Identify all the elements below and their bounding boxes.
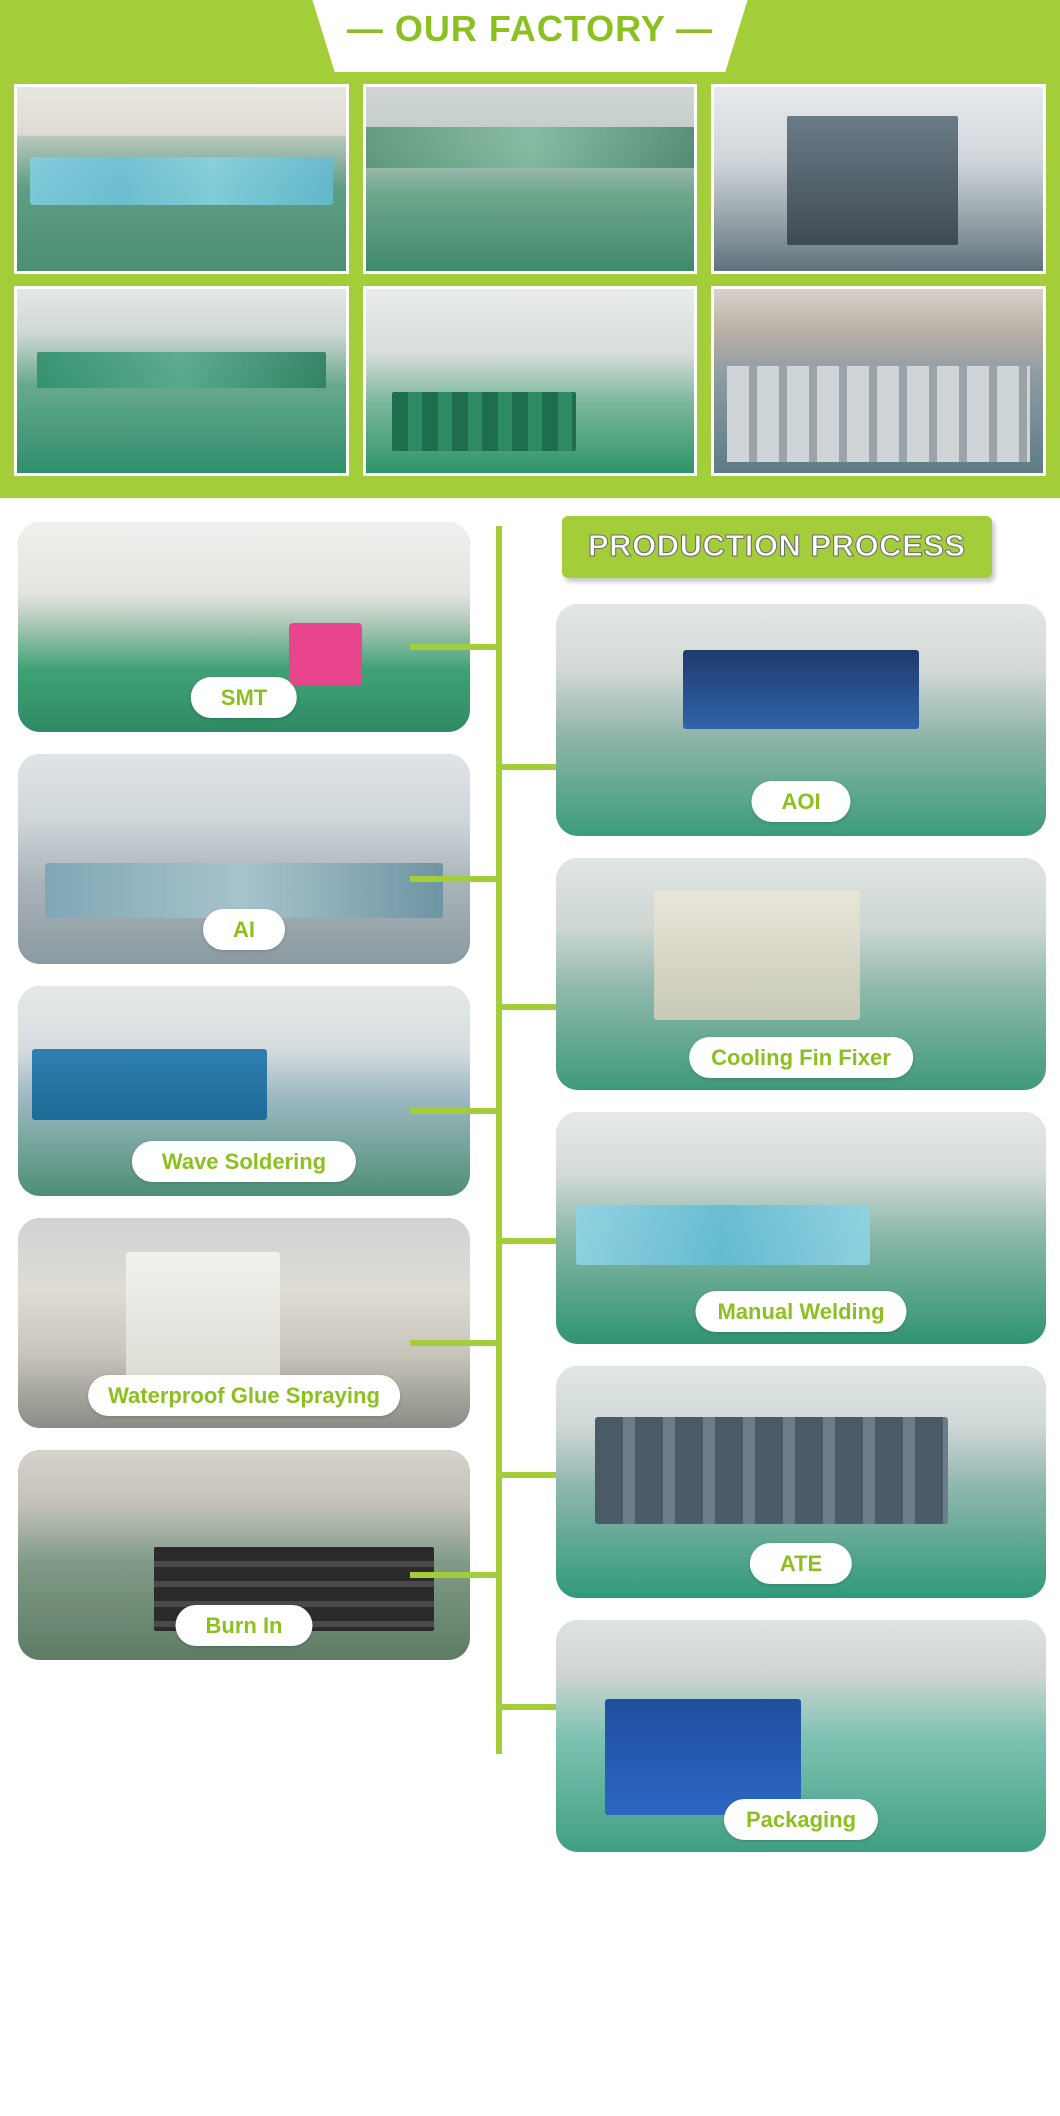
timeline-arm-left-5 <box>410 1572 496 1578</box>
production-process-title-wrap: PRODUCTION PROCESS <box>556 516 1046 578</box>
process-step-wave-soldering[interactable]: Wave Soldering <box>18 986 470 1196</box>
packaging-label: Packaging <box>724 1799 878 1840</box>
manual-welding-label: Manual Welding <box>695 1291 906 1332</box>
process-step-burn-in[interactable]: Burn In <box>18 1450 470 1660</box>
cooling-fin-fixer-label: Cooling Fin Fixer <box>689 1037 913 1078</box>
ai-label: AI <box>203 909 285 950</box>
timeline-arm-left-4 <box>410 1340 496 1346</box>
process-step-ate[interactable]: ATE <box>556 1366 1046 1598</box>
aoi-label: AOI <box>751 781 850 822</box>
process-step-cooling-fin-fixer[interactable]: Cooling Fin Fixer <box>556 858 1046 1090</box>
page-title: — OUR FACTORY — <box>0 8 1060 50</box>
process-step-ai[interactable]: AI <box>18 754 470 964</box>
ate-label: ATE <box>750 1543 852 1584</box>
process-left-column: SMT AI Wave Soldering Waterproof Glue Sp… <box>0 516 470 1682</box>
factory-photo-assembly-line-workers-1 <box>14 84 349 274</box>
process-step-manual-welding[interactable]: Manual Welding <box>556 1112 1046 1344</box>
process-right-column: PRODUCTION PROCESS AOI Cooling Fin Fixer… <box>556 516 1060 1874</box>
timeline-arm-left-1 <box>410 644 496 650</box>
waterproof-glue-spraying-label: Waterproof Glue Spraying <box>88 1375 400 1416</box>
production-process-title: PRODUCTION PROCESS <box>588 528 966 563</box>
gallery-row <box>14 286 1046 476</box>
factory-gallery <box>0 72 1060 498</box>
factory-photo-aging-test-racks <box>711 286 1046 476</box>
factory-photo-assembly-line-workers-2 <box>363 84 698 274</box>
factory-photo-automated-machine <box>711 84 1046 274</box>
timeline-arm-left-3 <box>410 1108 496 1114</box>
page-header: — OUR FACTORY — <box>0 0 1060 72</box>
process-step-aoi[interactable]: AOI <box>556 604 1046 836</box>
timeline-vertical-line <box>496 526 502 1754</box>
factory-photo-assembly-line-workers-3 <box>14 286 349 476</box>
burn-in-label: Burn In <box>176 1605 313 1646</box>
smt-label: SMT <box>191 677 297 718</box>
gallery-row <box>14 84 1046 274</box>
process-step-packaging[interactable]: Packaging <box>556 1620 1046 1852</box>
process-step-waterproof-glue-spraying[interactable]: Waterproof Glue Spraying <box>18 1218 470 1428</box>
wave-soldering-label: Wave Soldering <box>132 1141 356 1182</box>
production-process-banner: PRODUCTION PROCESS <box>562 516 992 578</box>
factory-photo-warehouse-stacked-goods <box>363 286 698 476</box>
process-timeline-spine <box>470 516 556 1874</box>
process-step-smt[interactable]: SMT <box>18 522 470 732</box>
production-process-section: SMT AI Wave Soldering Waterproof Glue Sp… <box>0 498 1060 1900</box>
timeline-arm-left-2 <box>410 876 496 882</box>
